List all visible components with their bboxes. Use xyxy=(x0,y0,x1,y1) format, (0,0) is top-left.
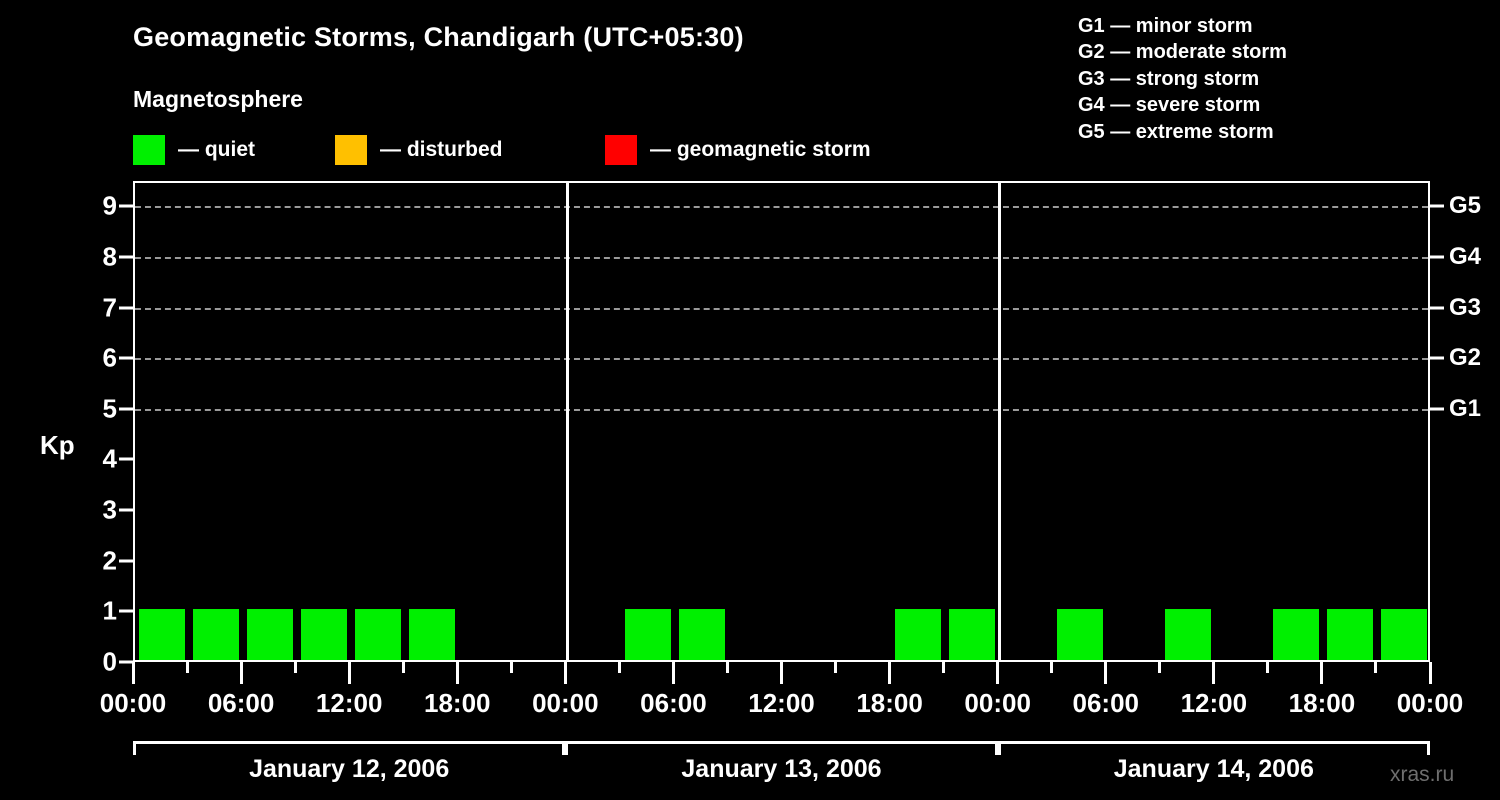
y-tick-label-9: 9 xyxy=(57,191,117,222)
x-tick-minor-23 xyxy=(1374,662,1377,673)
bar xyxy=(1165,609,1211,660)
y-tick-7 xyxy=(119,306,133,309)
x-tick-label-10: 12:00 xyxy=(1181,688,1248,719)
x-tick-label-9: 06:00 xyxy=(1073,688,1140,719)
x-tick-label-0: 00:00 xyxy=(100,688,167,719)
bar xyxy=(1057,609,1103,660)
g-tick-label-G1: G1 xyxy=(1449,395,1481,423)
gridline-kp-8 xyxy=(135,257,1428,259)
day-label-1: January 12, 2006 xyxy=(133,755,565,784)
x-tick-label-1: 06:00 xyxy=(208,688,275,719)
g-scale-line-4: G4 — severe storm xyxy=(1078,92,1287,118)
y-tick-label-7: 7 xyxy=(57,292,117,323)
x-tick-minor-1 xyxy=(186,662,189,673)
legend-swatch-geomagnetic-storm xyxy=(605,135,637,165)
day-separator-2 xyxy=(998,183,1001,660)
legend-item-geomagnetic-storm: — geomagnetic storm xyxy=(605,133,871,167)
day-label-3: January 14, 2006 xyxy=(998,755,1430,784)
legend-label-disturbed: — disturbed xyxy=(380,138,503,162)
watermark: xras.ru xyxy=(1390,763,1454,787)
legend-item-disturbed: — disturbed xyxy=(335,133,503,167)
bar xyxy=(1327,609,1373,660)
g-scale-line-5: G5 — extreme storm xyxy=(1078,119,1287,145)
y-tick-9 xyxy=(119,205,133,208)
gridline-kp-9 xyxy=(135,206,1428,208)
g-scale-line-3: G3 — strong storm xyxy=(1078,66,1287,92)
g-scale-line-2: G2 — moderate storm xyxy=(1078,39,1287,65)
g-tick-G1 xyxy=(1430,407,1444,410)
y-tick-label-3: 3 xyxy=(57,495,117,526)
x-tick-minor-3 xyxy=(294,662,297,673)
x-tick-label-5: 06:00 xyxy=(640,688,707,719)
day-bracket-1 xyxy=(133,741,565,755)
x-tick-minor-5 xyxy=(402,662,405,673)
chart-root: Geomagnetic Storms, Chandigarh (UTC+05:3… xyxy=(0,0,1500,800)
g-tick-G4 xyxy=(1430,255,1444,258)
y-tick-label-4: 4 xyxy=(57,444,117,475)
g-tick-label-G4: G4 xyxy=(1449,243,1481,271)
x-tick-minor-9 xyxy=(618,662,621,673)
bar xyxy=(1381,609,1427,660)
bar xyxy=(247,609,293,660)
y-tick-1 xyxy=(119,610,133,613)
page-title: Geomagnetic Storms, Chandigarh (UTC+05:3… xyxy=(133,22,744,53)
plot-area xyxy=(133,181,1430,662)
y-tick-label-1: 1 xyxy=(57,596,117,627)
x-tick-minor-19 xyxy=(1158,662,1161,673)
y-tick-label-6: 6 xyxy=(57,343,117,374)
x-tick-major-4 xyxy=(348,662,351,684)
x-tick-label-2: 12:00 xyxy=(316,688,383,719)
x-tick-label-7: 18:00 xyxy=(856,688,923,719)
magnetosphere-header: Magnetosphere xyxy=(133,86,303,113)
y-tick-3 xyxy=(119,509,133,512)
x-tick-major-2 xyxy=(240,662,243,684)
day-label-2: January 13, 2006 xyxy=(565,755,997,784)
y-tick-label-5: 5 xyxy=(57,393,117,424)
x-tick-major-18 xyxy=(1104,662,1107,684)
x-tick-major-20 xyxy=(1212,662,1215,684)
bar xyxy=(895,609,941,660)
x-tick-major-16 xyxy=(996,662,999,684)
legend-label-geomagnetic-storm: — geomagnetic storm xyxy=(650,138,871,162)
y-tick-2 xyxy=(119,559,133,562)
bar xyxy=(949,609,995,660)
g-tick-label-G2: G2 xyxy=(1449,344,1481,372)
x-tick-minor-11 xyxy=(726,662,729,673)
x-tick-label-8: 00:00 xyxy=(964,688,1031,719)
x-tick-major-10 xyxy=(672,662,675,684)
g-tick-label-G3: G3 xyxy=(1449,294,1481,322)
gridline-kp-6 xyxy=(135,358,1428,360)
y-tick-4 xyxy=(119,458,133,461)
bar xyxy=(301,609,347,660)
legend-item-quiet: — quiet xyxy=(133,133,255,167)
bar xyxy=(193,609,239,660)
x-tick-major-14 xyxy=(888,662,891,684)
x-tick-label-3: 18:00 xyxy=(424,688,491,719)
x-tick-label-4: 00:00 xyxy=(532,688,599,719)
x-tick-major-24 xyxy=(1429,662,1432,684)
y-tick-6 xyxy=(119,357,133,360)
x-tick-major-8 xyxy=(564,662,567,684)
g-tick-G2 xyxy=(1430,357,1444,360)
x-tick-major-0 xyxy=(132,662,135,684)
gridline-kp-7 xyxy=(135,308,1428,310)
x-tick-minor-21 xyxy=(1266,662,1269,673)
legend-label-quiet: — quiet xyxy=(178,138,255,162)
bar xyxy=(355,609,401,660)
bar xyxy=(679,609,725,660)
day-bracket-2 xyxy=(565,741,997,755)
x-tick-minor-17 xyxy=(1050,662,1053,673)
legend-swatch-quiet xyxy=(133,135,165,165)
gridline-kp-5 xyxy=(135,409,1428,411)
x-tick-major-12 xyxy=(780,662,783,684)
g-scale-line-1: G1 — minor storm xyxy=(1078,13,1287,39)
legend-swatch-disturbed xyxy=(335,135,367,165)
day-bracket-3 xyxy=(998,741,1430,755)
x-tick-minor-15 xyxy=(942,662,945,673)
g-tick-G5 xyxy=(1430,205,1444,208)
bar xyxy=(1273,609,1319,660)
x-tick-minor-13 xyxy=(834,662,837,673)
x-tick-label-11: 18:00 xyxy=(1289,688,1356,719)
bar xyxy=(409,609,455,660)
g-tick-label-G5: G5 xyxy=(1449,192,1481,220)
x-tick-major-22 xyxy=(1320,662,1323,684)
y-tick-5 xyxy=(119,407,133,410)
day-separator-1 xyxy=(566,183,569,660)
x-tick-minor-7 xyxy=(510,662,513,673)
x-tick-label-6: 12:00 xyxy=(748,688,815,719)
bar xyxy=(625,609,671,660)
g-scale-legend: G1 — minor stormG2 — moderate stormG3 — … xyxy=(1078,13,1287,145)
y-tick-label-8: 8 xyxy=(57,241,117,272)
y-tick-label-0: 0 xyxy=(57,647,117,678)
y-tick-label-2: 2 xyxy=(57,545,117,576)
g-tick-G3 xyxy=(1430,306,1444,309)
x-tick-major-6 xyxy=(456,662,459,684)
bar xyxy=(139,609,185,660)
x-tick-label-12: 00:00 xyxy=(1397,688,1464,719)
y-tick-8 xyxy=(119,255,133,258)
